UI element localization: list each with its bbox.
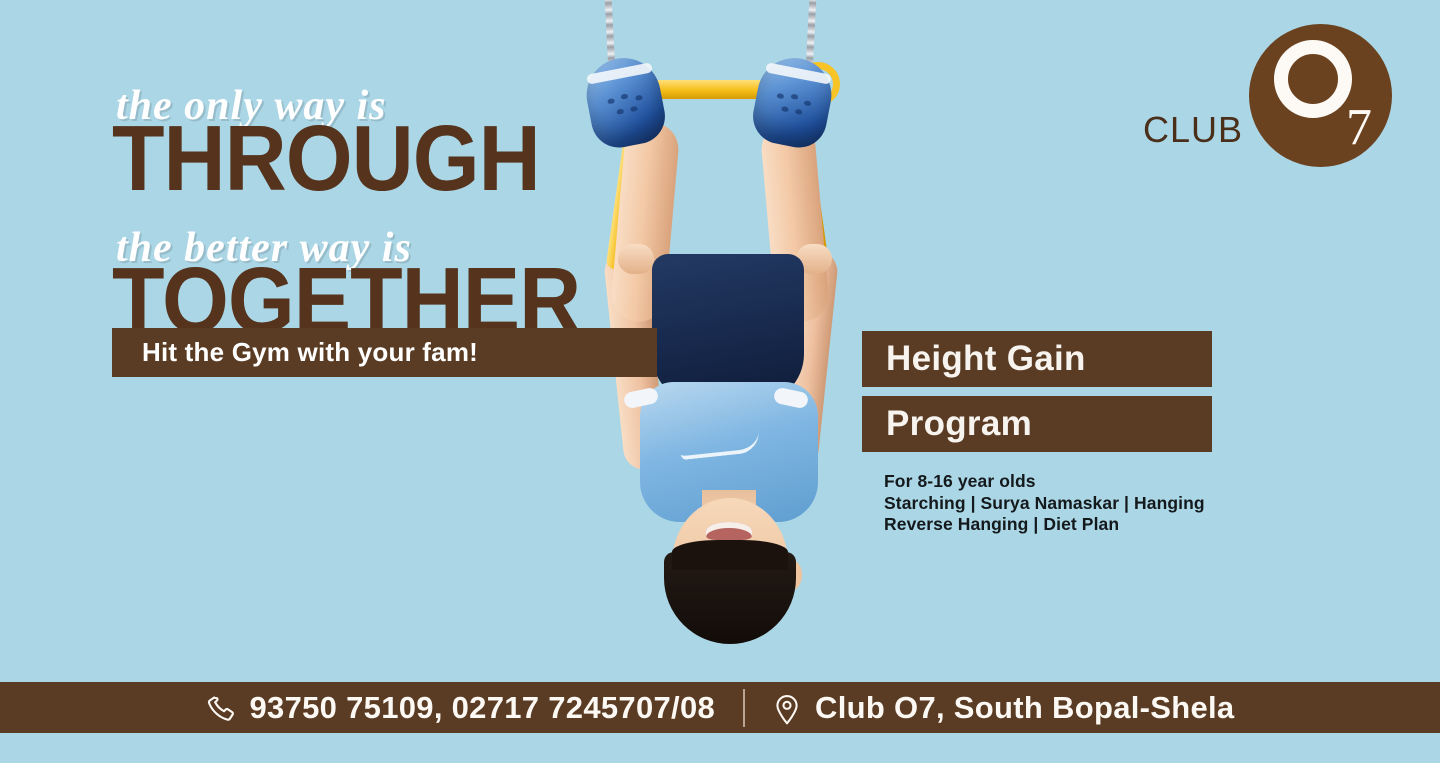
footer-phone[interactable]: 93750 75109, 02717 7245707/08 xyxy=(206,690,716,726)
footer-location-text: Club O7, South Bopal-Shela xyxy=(815,690,1234,726)
clog-strap xyxy=(586,62,653,84)
logo-o-ring-icon xyxy=(1274,40,1352,118)
shorts-logo xyxy=(679,430,761,460)
program-detail-line: Reverse Hanging | Diet Plan xyxy=(884,514,1205,536)
footer-divider xyxy=(743,689,745,727)
logo-circle-mark: 7 xyxy=(1249,24,1392,167)
map-pin-icon xyxy=(773,693,801,725)
hair xyxy=(664,552,796,644)
program-title-line-1: Height Gain xyxy=(862,339,1086,379)
footer-location[interactable]: Club O7, South Bopal-Shela xyxy=(773,690,1234,726)
program-details: For 8-16 year olds Starching | Surya Nam… xyxy=(884,471,1205,536)
contact-footer-bar: 93750 75109, 02717 7245707/08 Club O7, S… xyxy=(0,682,1440,733)
tagline-text: Hit the Gym with your fam! xyxy=(112,337,478,368)
tagline-strip: Hit the Gym with your fam! xyxy=(112,328,657,377)
hand-left xyxy=(618,244,654,274)
program-title-line-2: Program xyxy=(862,404,1032,444)
mouth xyxy=(706,522,752,540)
logo-word-club: CLUB xyxy=(1143,109,1243,151)
club-o7-logo: CLUB 7 xyxy=(1143,24,1392,167)
advertisement-poster: the only way is THROUGH the better way i… xyxy=(0,0,1440,763)
program-detail-line: Starching | Surya Namaskar | Hanging xyxy=(884,493,1205,515)
footer-phone-text: 93750 75109, 02717 7245707/08 xyxy=(250,690,716,726)
program-detail-line: For 8-16 year olds xyxy=(884,471,1205,493)
program-title-strip-2: Program xyxy=(862,396,1212,452)
logo-number-seven: 7 xyxy=(1346,102,1372,154)
headline-big-line-1: THROUGH xyxy=(112,112,540,205)
program-title-strip-1: Height Gain xyxy=(862,331,1212,387)
phone-icon xyxy=(206,694,236,724)
